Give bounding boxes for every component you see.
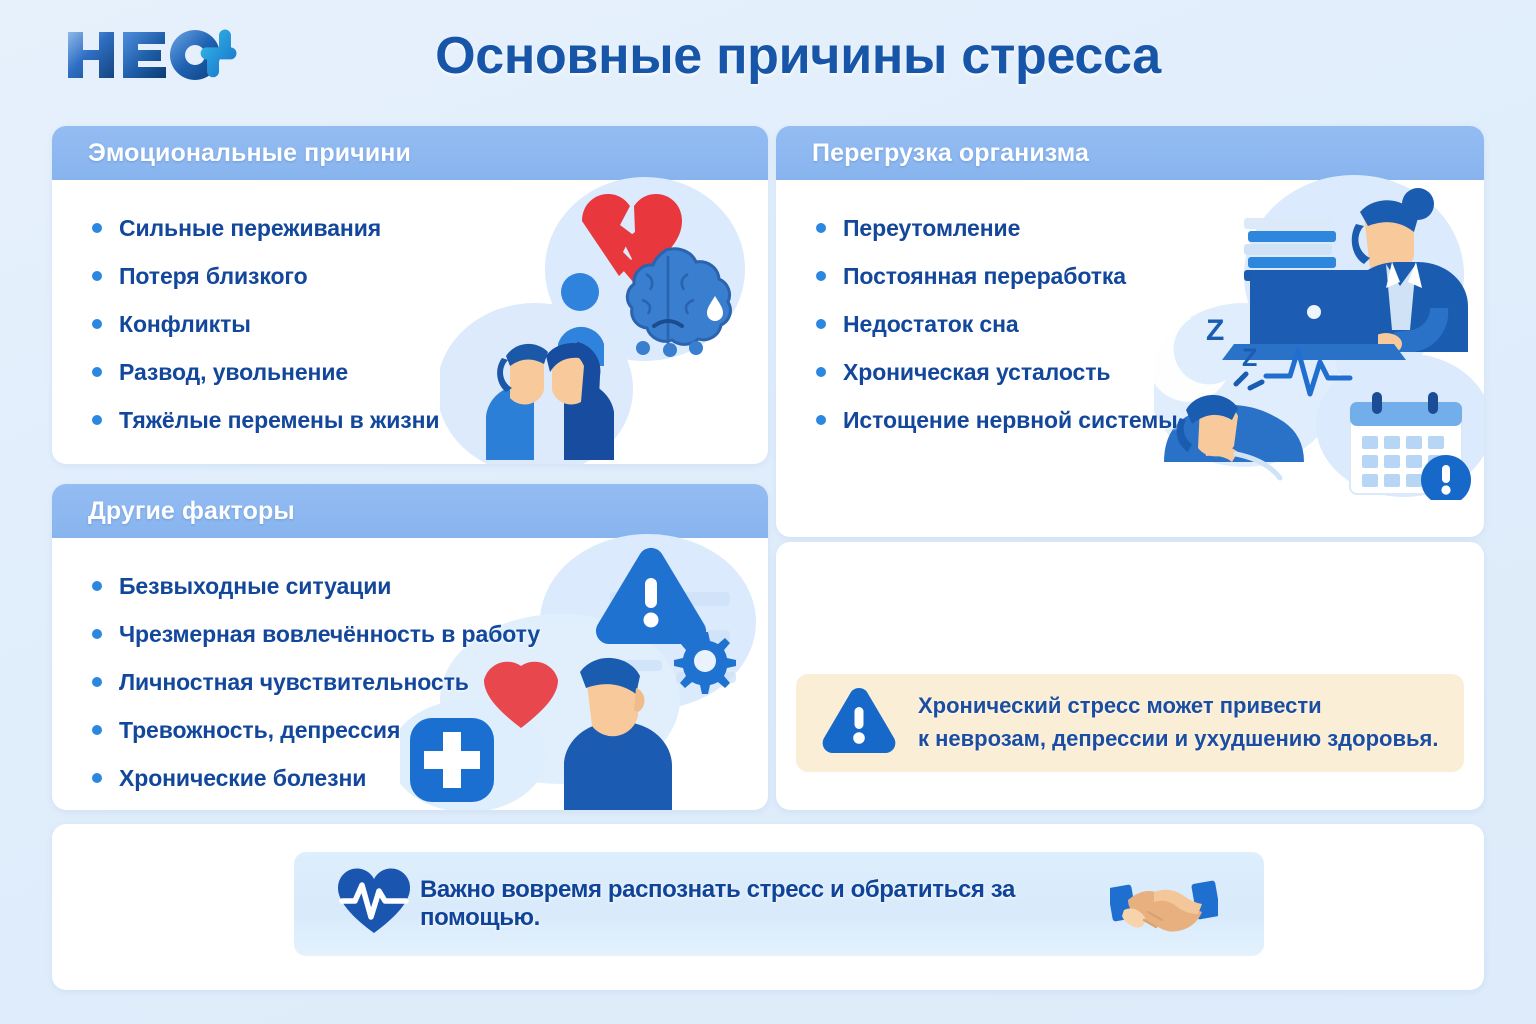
card-title-other: Другие факторы <box>88 497 295 526</box>
card-emotional-causes: Эмоциональные причини <box>52 126 768 464</box>
bullet-dot <box>92 271 102 281</box>
list-item-label: Чрезмерная вовлечённость в работу <box>119 621 540 648</box>
list-item-label: Безвыходные ситуации <box>119 573 391 600</box>
list-item: Хронические болезни <box>92 754 768 802</box>
infographic-canvas: Основные причины стресса Эмоциональные п… <box>0 0 1536 1024</box>
list-item-label: Личностная чувствительность <box>119 669 469 696</box>
list-item-label: Хронические болезни <box>119 765 366 792</box>
card-title-overload: Перегрузка организма <box>812 139 1089 168</box>
list-emotional-causes: Сильные переживания Потеря близкого Конф… <box>52 180 768 444</box>
card-header-other: Другие факторы <box>52 484 768 538</box>
list-item: Развод, увольнение <box>92 348 768 396</box>
card-warning-panel: Хронический стресс может привести к невр… <box>776 542 1484 810</box>
list-item-label: Истощение нервной системы <box>843 407 1178 434</box>
card-body-emotional: Сильные переживания Потеря близкого Конф… <box>52 180 768 464</box>
warning-callout: Хронический стресс может привести к невр… <box>796 674 1464 772</box>
list-item: Тяжёлые перемены в жизни <box>92 396 768 444</box>
heartbeat-heart-icon <box>336 867 412 942</box>
bullet-dot <box>92 415 102 425</box>
list-other-factors: Безвыходные ситуации Чрезмерная вовлечён… <box>52 538 768 802</box>
list-item: Безвыходные ситуации <box>92 562 768 610</box>
card-body-other: Безвыходные ситуации Чрезмерная вовлечён… <box>52 538 768 810</box>
card-title-emotional: Эмоциональные причини <box>88 139 411 168</box>
bullet-dot <box>816 319 826 329</box>
bullet-dot <box>92 367 102 377</box>
bullet-dot <box>92 629 102 639</box>
footer-banner: Важно вовремя распознать стресс и обрати… <box>294 852 1264 956</box>
warning-line-1: Хронический стресс может привести <box>918 693 1322 718</box>
list-item-label: Тяжёлые перемены в жизни <box>119 407 439 434</box>
bullet-dot <box>92 223 102 233</box>
list-item-label: Тревожность, депрессия <box>119 717 400 744</box>
bullet-dot <box>92 773 102 783</box>
card-header-emotional: Эмоциональные причини <box>52 126 768 180</box>
card-body-overload-content: Z Z <box>776 180 1484 537</box>
list-item: Постоянная переработка <box>816 252 1484 300</box>
list-item-label: Недостаток сна <box>843 311 1019 338</box>
warning-line-2: к неврозам, депрессии и ухудшению здоров… <box>918 726 1438 751</box>
list-item-label: Конфликты <box>119 311 251 338</box>
list-item: Хроническая усталость <box>816 348 1484 396</box>
card-other-factors: Другие факторы <box>52 484 768 810</box>
page-header: Основные причины стресса <box>0 0 1536 118</box>
list-item: Истощение нервной системы <box>816 396 1484 444</box>
list-item: Конфликты <box>92 300 768 348</box>
list-item: Личностная чувствительность <box>92 658 768 706</box>
bullet-dot <box>816 223 826 233</box>
bullet-dot <box>92 319 102 329</box>
list-item: Сильные переживания <box>92 204 768 252</box>
list-item-label: Переутомление <box>843 215 1020 242</box>
bullet-dot <box>92 725 102 735</box>
list-item-label: Сильные переживания <box>119 215 381 242</box>
footer-text: Важно вовремя распознать стресс и обрати… <box>420 876 1110 932</box>
list-item-label: Постоянная переработка <box>843 263 1126 290</box>
list-item-label: Развод, увольнение <box>119 359 348 386</box>
list-item-label: Хроническая усталость <box>843 359 1110 386</box>
card-body-overload: Перегрузка организма <box>776 126 1484 537</box>
warning-triangle-icon <box>822 688 896 759</box>
card-footer: Важно вовремя распознать стресс и обрати… <box>52 824 1484 990</box>
bullet-dot <box>816 367 826 377</box>
handshake-icon <box>1110 866 1218 943</box>
list-item-label: Потеря близкого <box>119 263 308 290</box>
card-header-overload: Перегрузка организма <box>776 126 1484 180</box>
list-item: Потеря близкого <box>92 252 768 300</box>
bullet-dot <box>816 271 826 281</box>
page-title: Основные причины стресса <box>0 26 1536 86</box>
bullet-dot <box>816 415 826 425</box>
list-item: Недостаток сна <box>816 300 1484 348</box>
list-item: Тревожность, депрессия <box>92 706 768 754</box>
list-overload-causes: Переутомление Постоянная переработка Нед… <box>776 180 1484 444</box>
bullet-dot <box>92 581 102 591</box>
warning-text: Хронический стресс может привести к невр… <box>918 690 1438 755</box>
list-item: Чрезмерная вовлечённость в работу <box>92 610 768 658</box>
list-item: Переутомление <box>816 204 1484 252</box>
bullet-dot <box>92 677 102 687</box>
